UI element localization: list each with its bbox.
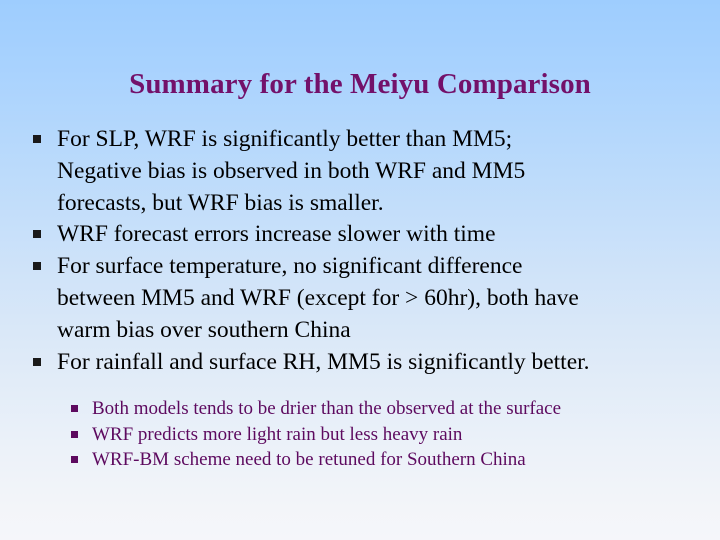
bullet-text: WRF forecast errors increase slower with… — [57, 219, 710, 251]
sub-bullet-text: WRF-BM scheme need to be retuned for Sou… — [92, 447, 712, 473]
square-bullet-icon — [33, 135, 41, 143]
bullet-text: For surface temperature, no significant … — [57, 251, 710, 346]
sub-bullet-list: Both models tends to be drier than the o… — [0, 396, 720, 473]
sub-list-item: Both models tends to be drier than the o… — [0, 396, 720, 422]
square-bullet-icon — [71, 405, 78, 412]
square-bullet-icon — [33, 262, 41, 270]
list-item: For rainfall and surface RH, MM5 is sign… — [0, 347, 720, 379]
sub-bullet-text: Both models tends to be drier than the o… — [92, 396, 712, 422]
list-item: For surface temperature, no significant … — [0, 251, 720, 346]
page-title: Summary for the Meiyu Comparison — [0, 67, 720, 101]
sub-list-item: WRF predicts more light rain but less he… — [0, 422, 720, 448]
square-bullet-icon — [71, 431, 78, 438]
square-bullet-icon — [33, 358, 41, 366]
presentation-slide: Summary for the Meiyu Comparison For SLP… — [0, 0, 720, 540]
list-item: For SLP, WRF is significantly better tha… — [0, 124, 720, 219]
square-bullet-icon — [33, 230, 41, 238]
sub-list-item: WRF-BM scheme need to be retuned for Sou… — [0, 447, 720, 473]
bullet-text: For SLP, WRF is significantly better tha… — [57, 124, 710, 219]
list-item: WRF forecast errors increase slower with… — [0, 219, 720, 251]
sub-bullet-text: WRF predicts more light rain but less he… — [92, 422, 712, 448]
main-bullet-list: For SLP, WRF is significantly better tha… — [0, 124, 720, 378]
square-bullet-icon — [71, 456, 78, 463]
bullet-text: For rainfall and surface RH, MM5 is sign… — [57, 347, 710, 379]
